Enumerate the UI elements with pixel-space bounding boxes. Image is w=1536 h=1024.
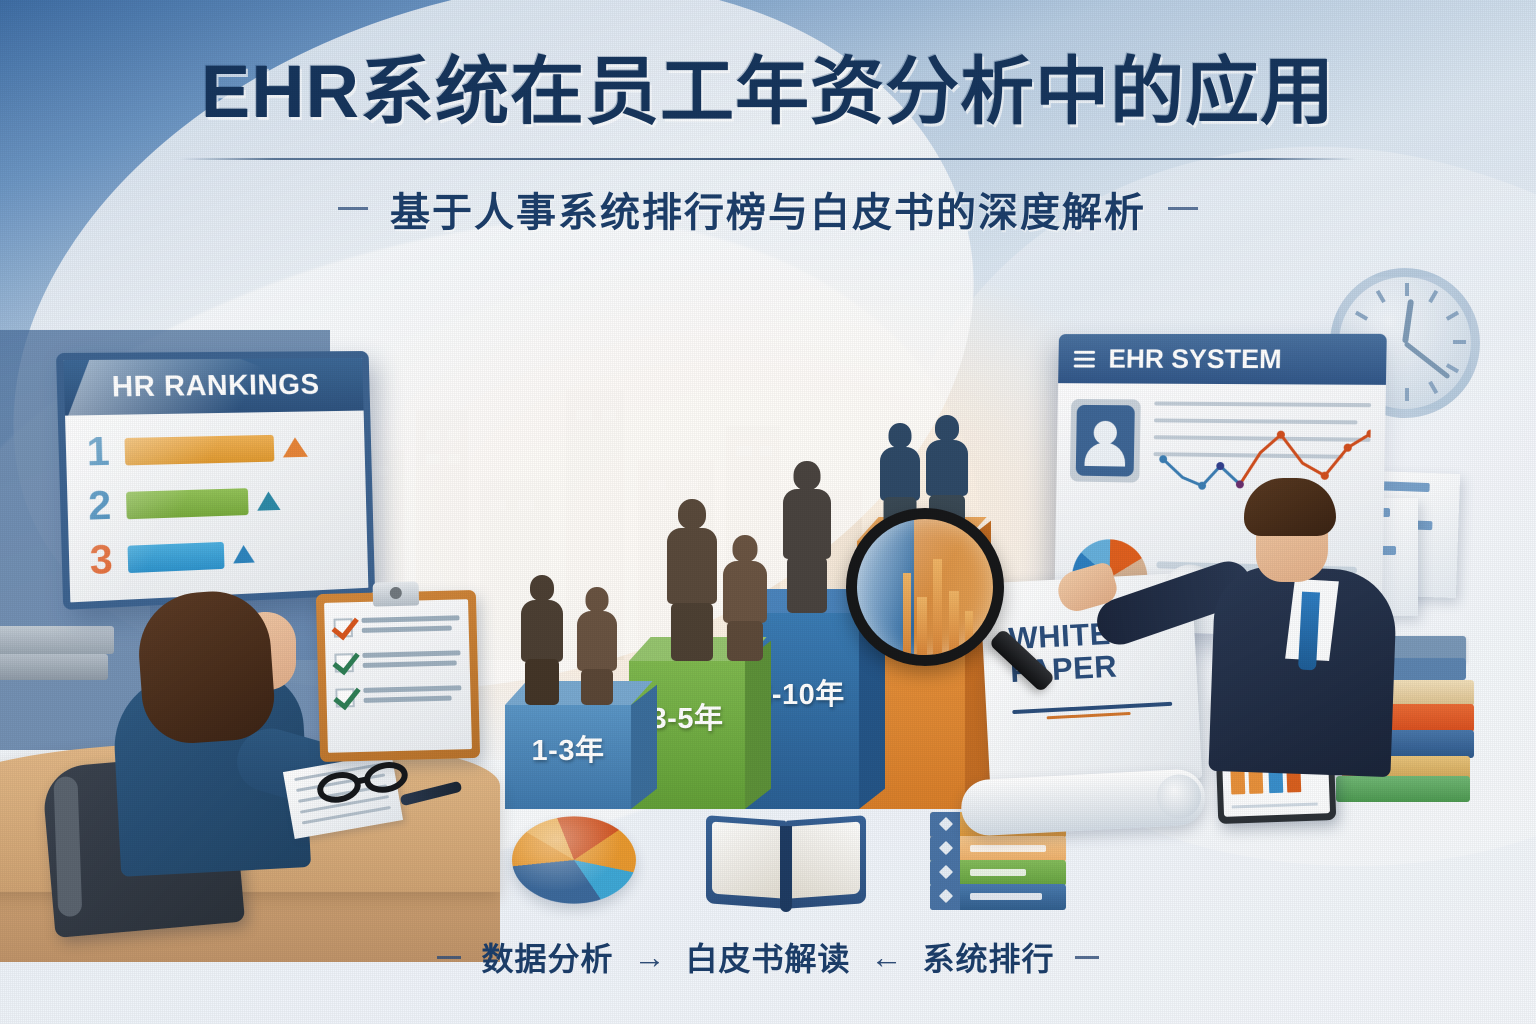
poster-canvas: HR RANKINGS 1 2 3 EHR SYSTEM xyxy=(0,0,1536,1024)
white-paper-rule xyxy=(1012,702,1172,714)
person-silhouette xyxy=(721,535,769,661)
folder-item xyxy=(930,836,1066,862)
page-subtitle: 基于人事系统排行榜与白皮书的深度解析 xyxy=(390,180,1146,238)
hr-rank-up-arrow-icon xyxy=(282,437,308,457)
check-icon[interactable] xyxy=(334,653,353,672)
hr-rank-up-arrow-icon xyxy=(257,491,281,511)
magnifying-glass-icon[interactable] xyxy=(846,508,1004,666)
hr-rankings-panel[interactable]: HR RANKINGS 1 2 3 xyxy=(56,351,375,610)
footer-caption: 数据分析 → 白皮书解读 ← 系统排行 xyxy=(0,934,1536,980)
page-title: EHR系统在员工年资分析中的应用 xyxy=(0,52,1536,132)
person-silhouette xyxy=(665,499,719,661)
title-divider xyxy=(180,158,1356,160)
clipboard-paper xyxy=(324,599,472,753)
bar-1: 1-3年 xyxy=(505,705,631,809)
hr-rank-number: 3 xyxy=(83,539,119,581)
checklist-text xyxy=(361,615,459,638)
user-avatar-icon xyxy=(1070,399,1141,483)
checklist-text xyxy=(362,650,460,673)
subtitle-row: 基于人事系统排行榜与白皮书的深度解析 xyxy=(0,180,1536,238)
checklist-text xyxy=(363,685,461,708)
person-silhouette xyxy=(519,575,565,705)
hamburger-icon[interactable] xyxy=(1074,350,1095,367)
woman-hair xyxy=(135,588,277,747)
checklist-item[interactable] xyxy=(335,685,461,708)
hr-rank-bar xyxy=(124,434,274,465)
person-silhouette xyxy=(575,587,619,705)
ehr-system-header: EHR SYSTEM xyxy=(1058,334,1387,385)
book-item xyxy=(0,626,114,654)
bar-side-face xyxy=(745,641,771,809)
caption-dash-right xyxy=(1075,956,1099,959)
magnifier-lens xyxy=(846,508,1004,666)
hr-rank-number: 2 xyxy=(82,485,118,527)
businessman-figure xyxy=(1186,476,1416,776)
bar-side-face xyxy=(631,685,657,809)
person-silhouette xyxy=(781,461,833,613)
arrow-right-icon: → xyxy=(633,939,665,976)
caption-item-3: 系统排行 xyxy=(923,934,1055,980)
subtitle-dash-left xyxy=(338,207,368,210)
clipboard-icon[interactable] xyxy=(316,590,480,762)
checklist-item[interactable] xyxy=(333,615,459,638)
hr-rank-bar xyxy=(126,488,249,519)
caption-dash-left xyxy=(437,956,461,959)
hr-rank-number: 1 xyxy=(80,431,116,473)
book-item xyxy=(1336,776,1470,802)
subtitle-dash-right xyxy=(1168,207,1198,210)
folder-item xyxy=(930,860,1066,886)
hr-ranking-row: 2 xyxy=(82,478,354,527)
arrow-left-icon: ← xyxy=(871,939,903,976)
caption-item-1: 数据分析 xyxy=(481,934,613,980)
hair xyxy=(1244,478,1336,536)
clipboard-clamp xyxy=(373,581,420,606)
pie-chart-icon xyxy=(512,816,636,903)
poster-header: EHR系统在员工年资分析中的应用 基于人事系统排行榜与白皮书的深度解析 xyxy=(0,52,1536,238)
hr-rank-bar xyxy=(127,541,224,572)
open-book-icon xyxy=(706,812,866,910)
checklist-item[interactable] xyxy=(334,650,460,673)
check-icon[interactable] xyxy=(333,618,352,637)
book-item xyxy=(0,654,108,680)
bar-label-1: 1-3年 xyxy=(505,727,631,769)
white-paper-rule-accent xyxy=(1047,712,1131,719)
hr-ranking-row: 3 xyxy=(83,530,355,581)
hr-rankings-body: 1 2 3 xyxy=(65,411,370,610)
folder-item xyxy=(930,884,1066,910)
caption-item-2: 白皮书解读 xyxy=(685,934,850,980)
hr-ranking-row: 1 xyxy=(80,426,352,472)
check-icon[interactable] xyxy=(335,688,354,707)
book-stack-left xyxy=(0,626,126,688)
hr-rankings-title: HR RANKINGS xyxy=(63,358,363,416)
ehr-system-title: EHR SYSTEM xyxy=(1108,343,1282,374)
hr-rank-up-arrow-icon xyxy=(233,545,255,564)
